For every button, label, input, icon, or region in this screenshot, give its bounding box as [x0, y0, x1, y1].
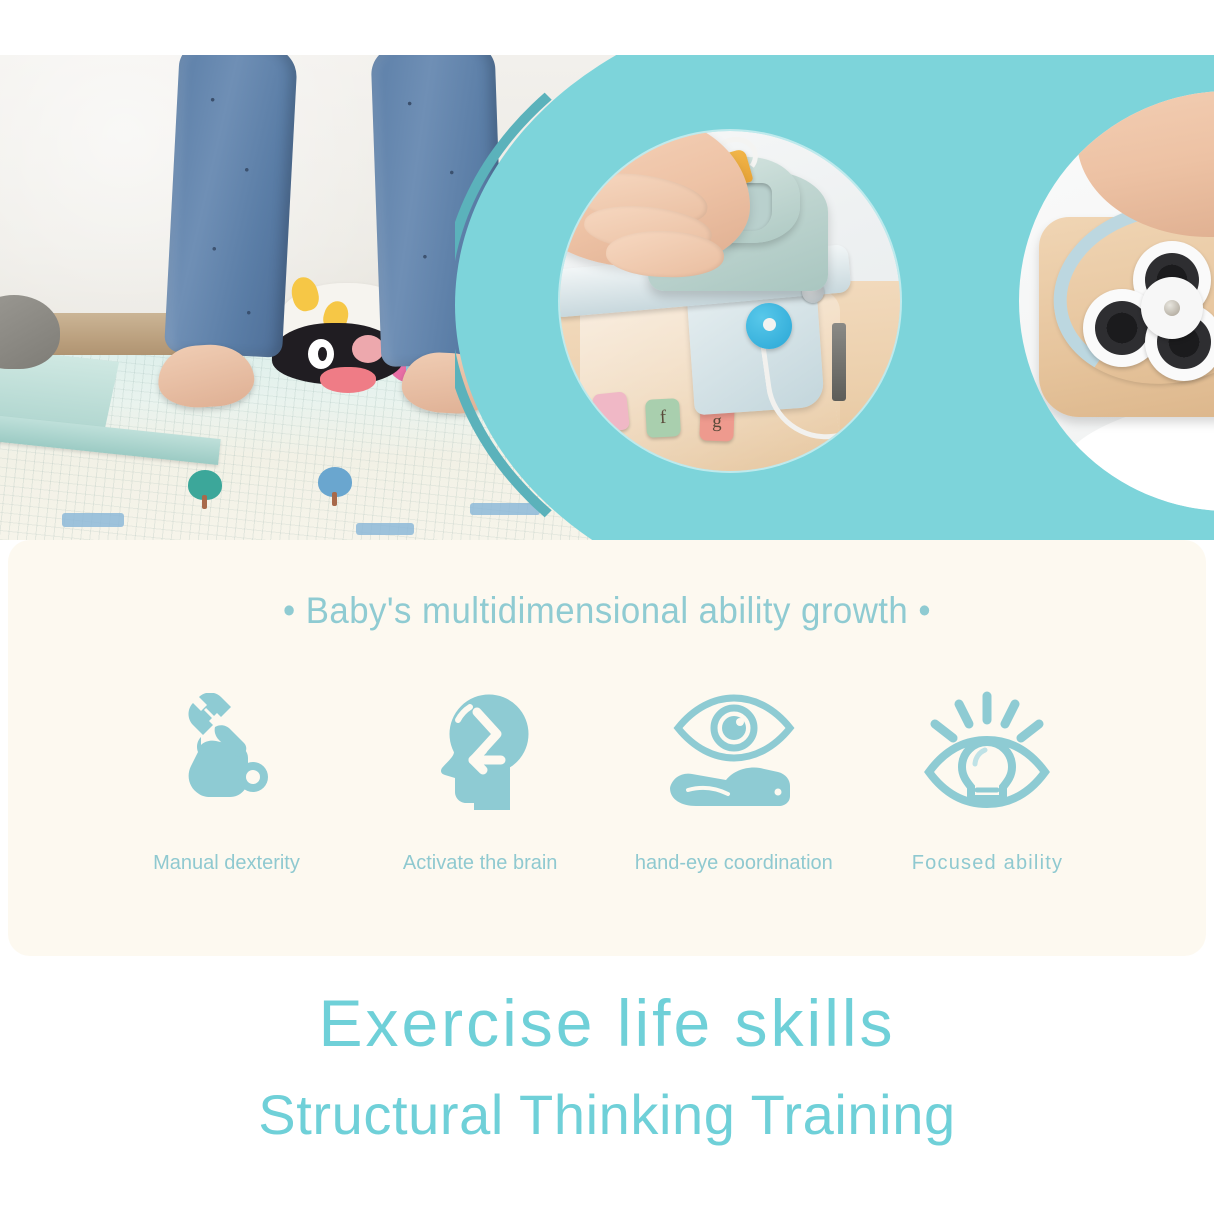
- head-brain-arrow-icon: [425, 686, 535, 818]
- feature-focused-ability: Focused ability: [861, 686, 1114, 875]
- spinner-hub: [1141, 277, 1203, 339]
- headline-primary: Exercise life skills: [0, 985, 1214, 1061]
- feature-label: hand-eye coordination: [635, 852, 833, 875]
- mat-tree-trunk: [332, 492, 337, 506]
- plush-tongue: [320, 367, 376, 393]
- headline-secondary: Structural Thinking Training: [0, 1082, 1214, 1147]
- feature-label: Activate the brain: [403, 852, 558, 875]
- hero-photo-band: f g: [0, 55, 1214, 540]
- eye-lightbulb-rays-icon: [923, 686, 1051, 818]
- adult-hand: [1077, 91, 1214, 237]
- fidget-spinner: [1089, 241, 1214, 381]
- feature-hand-eye-coordination: hand-eye coordination: [607, 686, 860, 875]
- hand-wrench-icon: [167, 686, 287, 818]
- feature-label: Focused ability: [912, 852, 1063, 875]
- board-hinge: [832, 323, 846, 401]
- eye-over-hand-icon: [666, 686, 802, 818]
- feature-label: Manual dexterity: [153, 852, 300, 875]
- mat-print: [356, 523, 414, 535]
- center-circle-photo: f g: [560, 131, 900, 471]
- toddler-leg-left: [164, 55, 298, 358]
- mat-print: [62, 513, 124, 527]
- feature-list: Manual dexterity Activate the brain: [100, 686, 1114, 916]
- blue-button: [746, 303, 792, 349]
- ability-growth-card: • Baby's multidimensional ability growth…: [8, 540, 1206, 956]
- mat-tree-trunk: [202, 495, 207, 509]
- letter-cube-f: f: [645, 398, 681, 438]
- feature-activate-brain: Activate the brain: [354, 686, 607, 875]
- feature-manual-dexterity: Manual dexterity: [100, 686, 353, 875]
- plush-pupil: [318, 347, 327, 361]
- plush-inner-ear: [352, 335, 384, 363]
- card-heading: • Baby's multidimensional ability growth…: [44, 590, 1170, 632]
- letter-cube: [592, 391, 630, 432]
